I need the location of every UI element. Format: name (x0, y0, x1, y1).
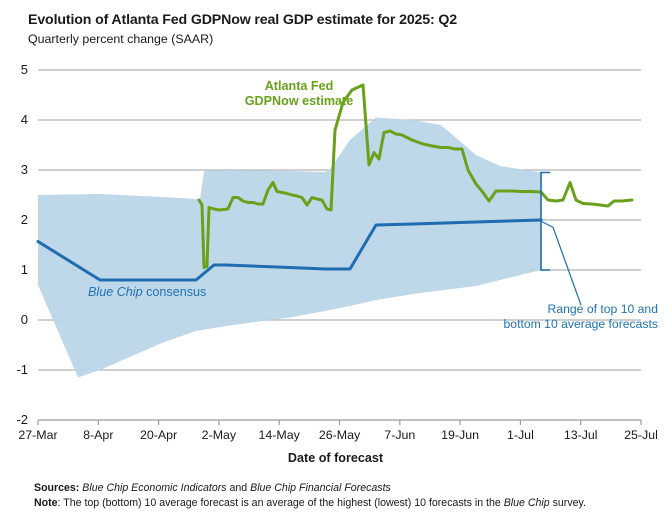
bluechip-label-italic: Blue Chip (88, 285, 143, 299)
gdpnow-label-line2: GDPNow estimate (245, 94, 353, 108)
note-text-2: survey. (550, 497, 586, 509)
x-tick-label-9: 13-Jul (564, 429, 598, 442)
footer-notes: Sources: Blue Chip Economic Indicators a… (34, 481, 664, 511)
x-tick-label-5: 26-May (319, 429, 360, 442)
x-tick-label-8: 1-Jul (507, 429, 534, 442)
chart-svg (0, 0, 671, 470)
gdpnow-series-label: Atlanta Fed GDPNow estimate (234, 79, 364, 109)
axes (38, 420, 641, 425)
y-tick-label-5: 5 (4, 63, 28, 76)
bluechip-series-label: Blue Chip consensus (88, 285, 206, 300)
bluechip-label-rest: consensus (143, 285, 207, 299)
y-tick-label-4: 4 (4, 113, 28, 126)
x-axis-title: Date of forecast (0, 451, 671, 465)
range-bracket-path (541, 173, 550, 271)
sources-italic-2: Blue Chip Financial Forecasts (250, 482, 391, 494)
x-tick-label-6: 7-Jun (384, 429, 415, 442)
x-tick-label-1: 8-Apr (83, 429, 113, 442)
sources-mid: and (227, 482, 251, 494)
note-italic: Blue Chip (504, 497, 550, 509)
note-line: Note: The top (bottom) 10 average foreca… (34, 496, 664, 511)
range-bracket (541, 173, 550, 271)
range-label-line2: bottom 10 average forecasts (504, 317, 658, 331)
plot-area: 543210-1-2 27-Mar8-Apr20-Apr2-May14-May2… (0, 0, 671, 470)
y-tick-label-3: 3 (4, 163, 28, 176)
y-tick-label-2: 2 (4, 213, 28, 226)
range-annotation-label: Range of top 10 and bottom 10 average fo… (468, 302, 658, 332)
x-tick-label-2: 20-Apr (140, 429, 177, 442)
annotation-leader-line (541, 221, 581, 305)
sources-line: Sources: Blue Chip Economic Indicators a… (34, 481, 664, 496)
y-tick-label-1: 1 (4, 263, 28, 276)
gdpnow-label-line1: Atlanta Fed (265, 79, 334, 93)
x-tick-label-7: 19-Jun (441, 429, 479, 442)
x-tick-label-0: 27-Mar (18, 429, 57, 442)
range-label-line1: Range of top 10 and (548, 302, 658, 316)
x-tick-label-4: 14-May (259, 429, 300, 442)
sources-label: Sources: (34, 482, 79, 494)
chart-page: Evolution of Atlanta Fed GDPNow real GDP… (0, 0, 671, 526)
sources-italic-1: Blue Chip Economic Indicators (82, 482, 226, 494)
y-tick-label-0: 0 (4, 313, 28, 326)
note-text-1: The top (bottom) 10 average forecast is … (61, 497, 504, 509)
note-label: Note (34, 497, 58, 509)
x-tick-label-10: 25-Jul (624, 429, 658, 442)
y-tick-label--1: -1 (4, 363, 28, 376)
leader-line (541, 221, 581, 305)
y-tick-label--2: -2 (4, 413, 28, 426)
x-tick-label-3: 2-May (202, 429, 236, 442)
